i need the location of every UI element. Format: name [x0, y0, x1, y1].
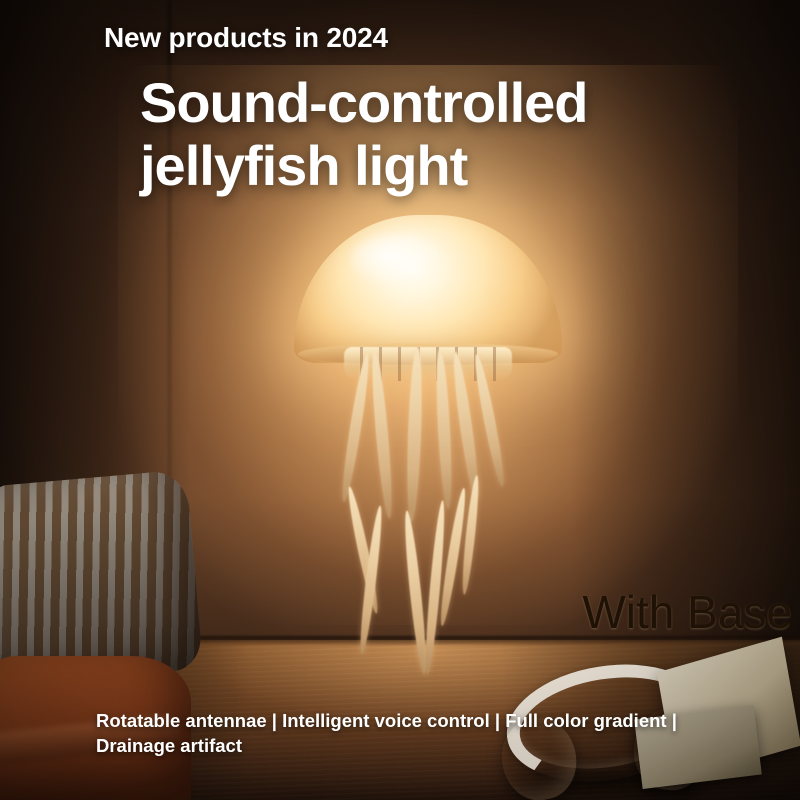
- headline: Sound-controlled jellyfish light: [140, 72, 588, 197]
- lamp-tentacles: [288, 335, 568, 695]
- with-base-badge: With Base: [582, 585, 792, 639]
- headline-line-2: jellyfish light: [140, 135, 588, 198]
- tentacle: [405, 347, 424, 522]
- kicker-text: New products in 2024: [104, 22, 388, 54]
- tentacle: [434, 349, 454, 509]
- product-photo: New products in 2024 Sound-controlled je…: [0, 0, 800, 800]
- jellyfish-lamp: [288, 215, 568, 695]
- feature-list-text: Rotatable antennae | Intelligent voice c…: [96, 709, 756, 758]
- tentacle: [338, 353, 372, 503]
- pillow-shadow: [0, 469, 203, 686]
- headline-line-1: Sound-controlled: [140, 72, 588, 135]
- tentacle: [369, 349, 396, 519]
- wall-right-shadow: [570, 0, 800, 660]
- dome-highlight: [350, 233, 446, 287]
